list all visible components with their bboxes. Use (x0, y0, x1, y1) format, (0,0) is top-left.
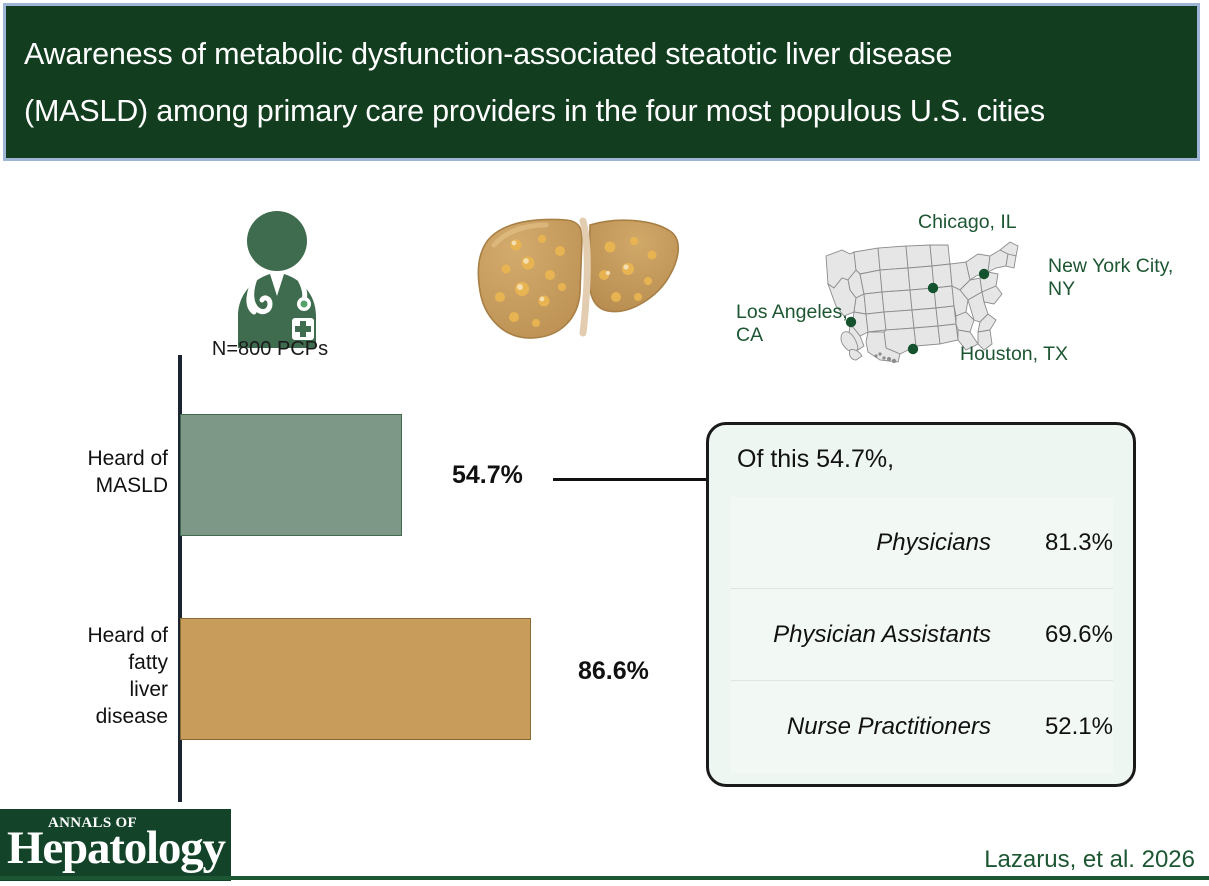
map-label-chicago: Chicago, IL (918, 211, 1017, 234)
liver-illustration-group (470, 205, 700, 355)
header-band: Awareness of metabolic dysfunction-assoc… (3, 3, 1200, 161)
chart-value-label-2: 86.6% (578, 657, 649, 686)
role-percent: 69.6% (1017, 621, 1113, 649)
bottom-rule (0, 876, 1209, 880)
journal-logo-hepatology: Hepatology (7, 822, 225, 874)
page-title-line-2: (MASLD) among primary care providers in … (24, 83, 1184, 140)
map-dot-new-york-city (979, 269, 989, 279)
page-title: Awareness of metabolic dysfunction-assoc… (24, 26, 1184, 140)
table-row: Physician Assistants 69.6% (731, 589, 1113, 681)
citation: Lazarus, et al. 2026 (984, 846, 1195, 874)
callout-box: Of this 54.7%, Physicians 81.3% Physicia… (706, 422, 1136, 787)
map-label-new-york-city: New York City, NY (1048, 255, 1173, 301)
role-label: Nurse Practitioners (787, 713, 1017, 741)
chart-category-label-2: Heard of fatty liver disease (28, 622, 168, 730)
map-dot-houston (908, 344, 918, 354)
bar-chart: Heard of MASLD Heard of fatty liver dise… (0, 350, 720, 820)
doctor-with-stethoscope-icon (214, 208, 340, 348)
map-dot-chicago (928, 283, 938, 293)
page-title-line-1: Awareness of metabolic dysfunction-assoc… (24, 26, 1184, 83)
fatty-liver-illustration (470, 205, 690, 350)
role-percent: 81.3% (1017, 529, 1113, 557)
role-percent: 52.1% (1017, 713, 1113, 741)
chart-bar-heard-of-fatty-liver-disease (180, 618, 531, 740)
callout-table: Physicians 81.3% Physician Assistants 69… (731, 497, 1113, 773)
journal-logo: ANNALS OF Hepatology (0, 809, 231, 881)
role-label: Physician Assistants (773, 621, 1017, 649)
map-label-los-angeles: Los Angeles, CA (736, 301, 848, 347)
chart-bar-heard-of-masld (180, 414, 402, 536)
callout-title: Of this 54.7%, (737, 445, 894, 474)
map-label-houston: Houston, TX (960, 343, 1068, 366)
callout-connector-line (553, 478, 713, 481)
chart-value-label-1: 54.7% (452, 461, 523, 490)
role-label: Physicians (876, 529, 1017, 557)
table-row: Physicians 81.3% (731, 497, 1113, 589)
doctor-group (196, 208, 356, 358)
chart-category-label-1: Heard of MASLD (28, 445, 168, 499)
table-row: Nurse Practitioners 52.1% (731, 681, 1113, 773)
